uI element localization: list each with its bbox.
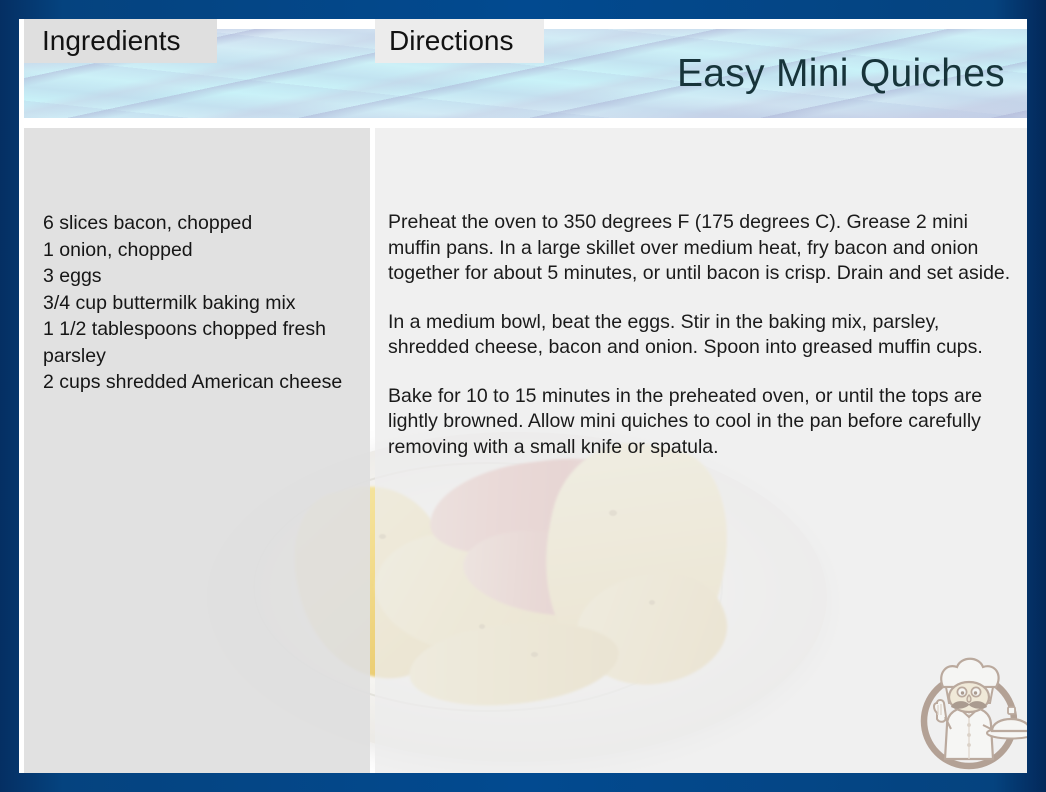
page-title: Easy Mini Quiches — [677, 52, 1005, 96]
direction-step: Bake for 10 to 15 minutes in the preheat… — [388, 384, 1020, 461]
direction-step: In a medium bowl, beat the eggs. Stir in… — [388, 310, 1020, 361]
list-item: 6 slices bacon, chopped — [43, 210, 368, 237]
raised-hand-icon — [934, 700, 946, 722]
list-item: 2 cups shredded American cheese — [43, 369, 368, 396]
ingredients-heading: Ingredients — [42, 19, 181, 63]
list-item: 1 1/2 tablespoons chopped fresh parsley — [43, 316, 368, 369]
ingredients-panel: 6 slices bacon, chopped 1 onion, chopped… — [24, 128, 370, 773]
ingredients-heading-tab: Ingredients — [24, 19, 217, 63]
ingredients-list: 6 slices bacon, chopped 1 onion, chopped… — [43, 210, 368, 396]
directions-steps: Preheat the oven to 350 degrees F (175 d… — [388, 210, 1020, 460]
list-item: 3 eggs — [43, 263, 368, 290]
recipe-card: Easy Mini Quiches 6 slices bacon, choppe… — [0, 0, 1046, 792]
list-item: 3/4 cup buttermilk baking mix — [43, 290, 368, 317]
directions-heading-tab: Directions — [375, 19, 544, 63]
cloche-icon — [992, 719, 1027, 731]
directions-heading: Directions — [389, 19, 513, 63]
list-item: 1 onion, chopped — [43, 237, 368, 264]
direction-step: Preheat the oven to 350 degrees F (175 d… — [388, 210, 1020, 287]
recipe-page: Easy Mini Quiches 6 slices bacon, choppe… — [19, 19, 1027, 773]
chef-mascot-logo — [903, 647, 1027, 773]
